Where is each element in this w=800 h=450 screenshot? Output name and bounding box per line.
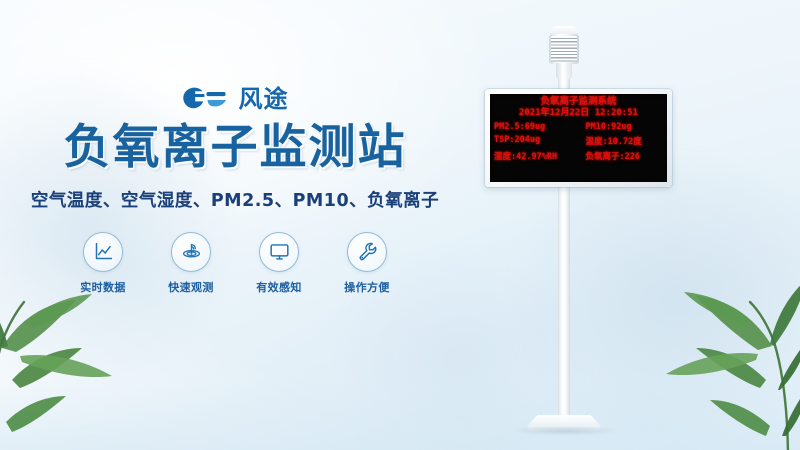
feature-label: 操作方便: [336, 279, 398, 295]
radiation-shield-sensor-icon: [546, 26, 582, 78]
gf-swoosh-logo-icon: [182, 86, 234, 112]
feature-item-effective-sensing[interactable]: 有效感知: [248, 232, 310, 295]
sensor-foot: [556, 63, 572, 79]
led-readings-grid: PM2.5:69ug PM10:92ug TSP:204ug 温度:10.72度…: [494, 122, 663, 162]
page-subtitle: 空气温度、空气湿度、PM2.5、PM10、负氧离子: [0, 187, 470, 212]
led-reading-humidity: 湿度:42.97%RH: [494, 150, 578, 162]
poster-canvas: 负氧离子监测系统 2021年12月22日 12:20:51 PM2.5:69ug…: [0, 0, 800, 450]
page-title: 负氧离子监测站: [0, 123, 470, 174]
led-reading-pm10: PM10:92ug: [580, 122, 664, 132]
led-display-panel[interactable]: 负氧离子监测系统 2021年12月22日 12:20:51 PM2.5:69ug…: [485, 89, 672, 187]
feature-item-fast-observation[interactable]: 快速观测: [160, 232, 222, 295]
radar-signal-icon: [171, 232, 211, 272]
led-reading-tsp: TSP:204ug: [494, 135, 578, 147]
led-reading-pm25: PM2.5:69ug: [494, 122, 578, 132]
feature-list: 实时数据 快速观测: [0, 232, 470, 295]
hero-content: 风途 负氧离子监测站 空气温度、空气湿度、PM2.5、PM10、负氧离子 实时数…: [0, 84, 470, 295]
brand-lockup: 风途: [182, 84, 289, 114]
brand-name: 风途: [239, 86, 289, 112]
plant-leaves-icon-right: [638, 250, 800, 450]
led-reading-negative-oxygen-ion: 负氧离子:226: [580, 150, 664, 162]
feature-label: 实时数据: [72, 279, 134, 295]
feature-item-realtime-data[interactable]: 实时数据: [72, 232, 134, 295]
sensor-louvers: [549, 34, 579, 64]
feature-label: 有效感知: [248, 279, 310, 295]
led-screen: 负氧离子监测系统 2021年12月22日 12:20:51 PM2.5:69ug…: [490, 94, 667, 182]
pole-base-shadow: [510, 427, 620, 436]
led-display-datetime: 2021年12月22日 12:20:51: [490, 109, 667, 118]
line-chart-icon: [83, 232, 123, 272]
feature-item-easy-operation[interactable]: 操作方便: [336, 232, 398, 295]
led-reading-temperature: 温度:10.72度: [580, 135, 664, 147]
feature-label: 快速观测: [160, 279, 222, 295]
monitor-icon: [259, 232, 299, 272]
led-display-title: 负氧离子监测系统: [490, 97, 667, 107]
wrench-icon: [347, 232, 387, 272]
